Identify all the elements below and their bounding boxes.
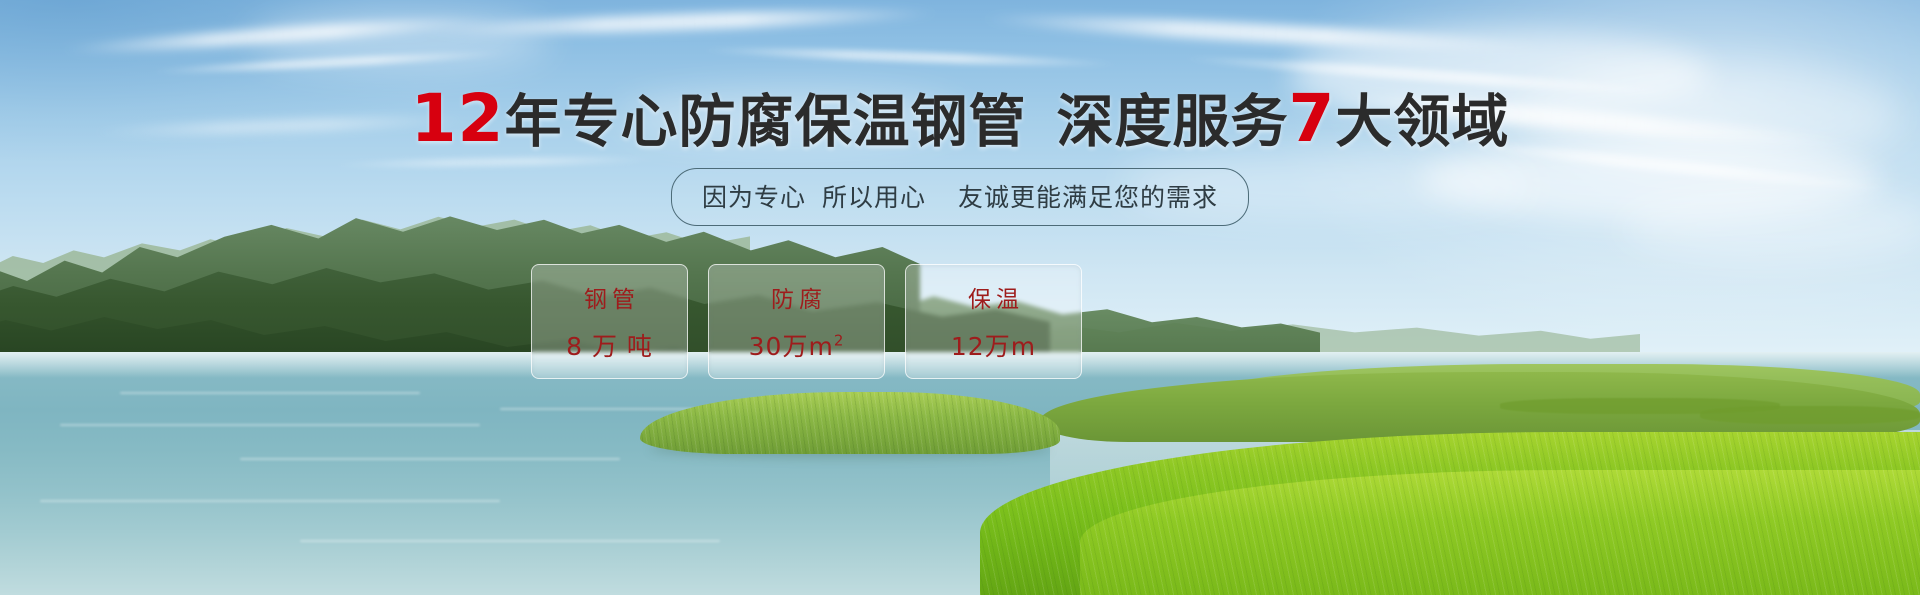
headline-years-number: 12: [411, 80, 505, 157]
subtitle-part-3: 友诚更能满足您的需求: [958, 183, 1218, 212]
stat-card-anticorrosion[interactable]: 防腐 30万m2: [708, 264, 885, 379]
hero-banner: 12年专心防腐保温钢管深度服务7大领域 因为专心所以用心友诚更能满足您的需求 钢…: [0, 0, 1920, 595]
stat-card-value-superscript: 2: [834, 332, 845, 350]
headline-fields-number: 7: [1288, 80, 1335, 157]
stat-card-value: 30万m2: [749, 327, 845, 363]
stat-card-insulation[interactable]: 保温 12万m: [905, 264, 1082, 379]
stat-card-value: 8 万 吨: [566, 327, 653, 363]
headline-second-suffix: 大领域: [1335, 89, 1509, 155]
subtitle-part-1: 因为专心: [702, 183, 806, 212]
stat-card-title: 保温: [963, 280, 1024, 314]
stat-card-title: 防腐: [766, 280, 827, 314]
headline-second-text: 深度服务: [1056, 89, 1288, 155]
stat-card-value: 12万m: [951, 327, 1036, 363]
stat-card-title: 钢管: [579, 280, 640, 314]
stat-cards: 钢管 8 万 吨 防腐 30万m2 保温 12万m: [531, 264, 1082, 379]
subtitle-pill: 因为专心所以用心友诚更能满足您的需求: [671, 168, 1249, 226]
subtitle-part-2: 所以用心: [822, 183, 926, 212]
stat-card-steel-pipe[interactable]: 钢管 8 万 吨: [531, 264, 688, 379]
page-title: 12年专心防腐保温钢管深度服务7大领域: [0, 86, 1920, 152]
headline-lead-text: 年专心防腐保温钢管: [504, 89, 1026, 155]
